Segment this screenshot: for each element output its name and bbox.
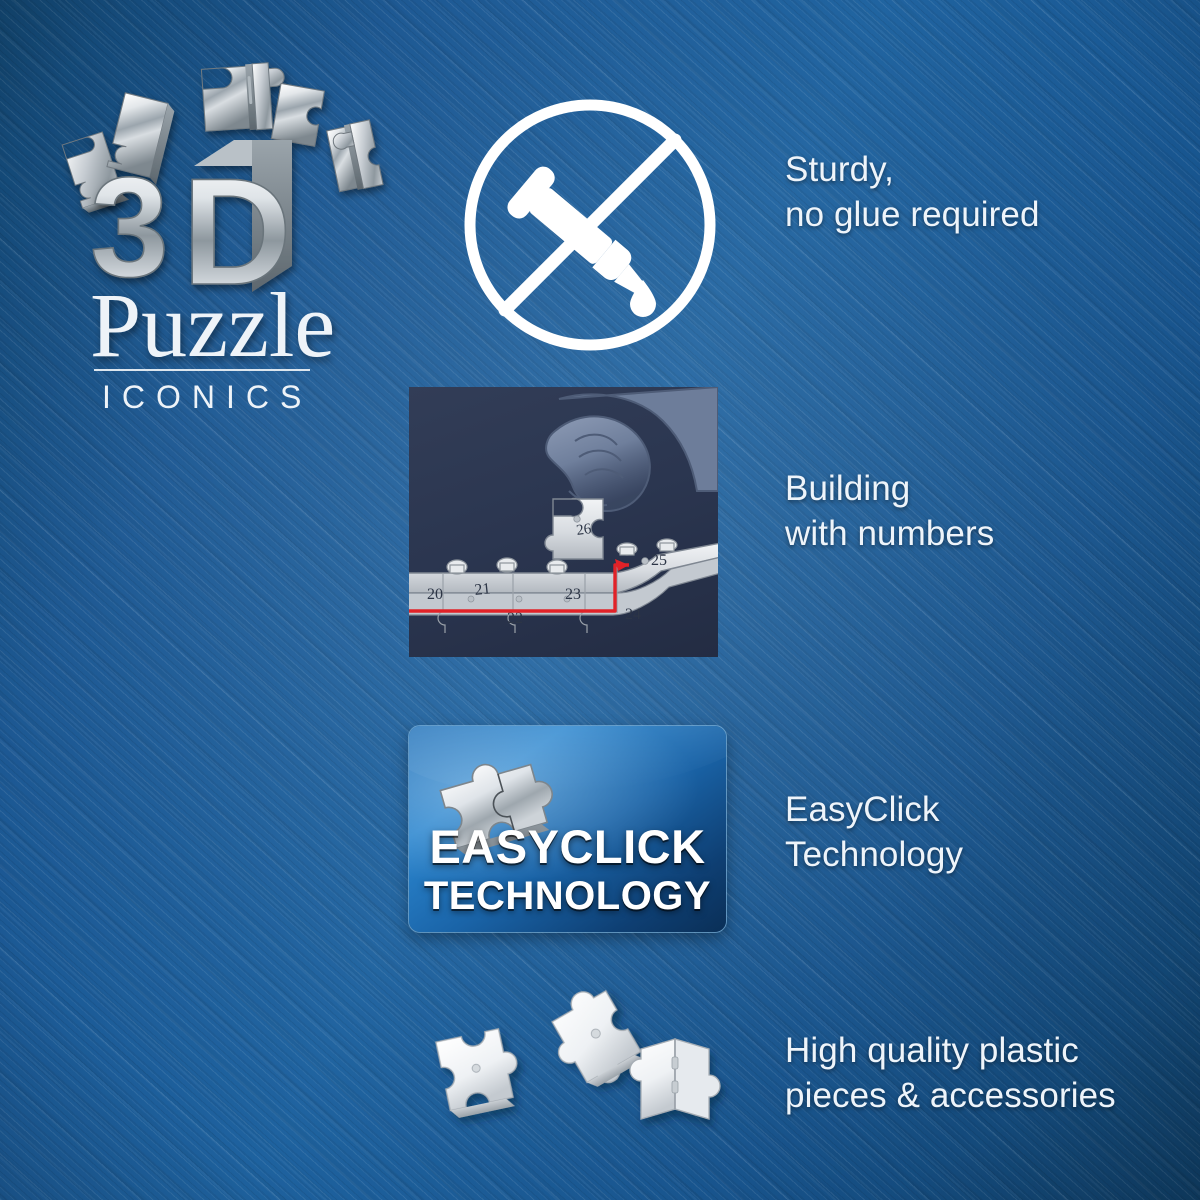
feature-caption-building-with-numbers: Building with numbers: [785, 467, 1200, 557]
easyclick-wordmark: EASYCLICK TECHNOLOGY: [409, 823, 726, 916]
feature-row-easyclick: EASYCLICK TECHNOLOGY EasyClick Technolog…: [409, 726, 726, 932]
easyclick-line1: EASYCLICK: [409, 823, 726, 870]
logo-puzzle-text: Puzzle: [90, 274, 335, 376]
feature-caption-easyclick: EasyClick Technology: [785, 788, 1200, 878]
no-glue-icon: [455, 90, 725, 360]
hand-illustration: [546, 387, 718, 511]
plastic-puzzle-pieces: [405, 1015, 735, 1145]
feature-row-high-quality-plastic: High quality plastic pieces & accessorie…: [405, 1015, 735, 1145]
feature-row-building-with-numbers: 26: [409, 387, 718, 657]
3d-puzzle-iconics-logo: 3 D Puzzle ICONICS: [42, 48, 372, 378]
feature-caption-high-quality-plastic: High quality plastic pieces & accessorie…: [785, 1029, 1200, 1119]
logo-iconics-text: ICONICS: [102, 379, 312, 415]
feature-caption-no-glue: Sturdy, no glue required: [785, 148, 1200, 238]
piece-number-25: 25: [651, 552, 667, 569]
numbered-pieces-illustration: 26: [409, 387, 718, 657]
piece-number-26: 26: [575, 521, 593, 539]
easyclick-technology-badge: EASYCLICK TECHNOLOGY: [409, 726, 726, 932]
infographic-canvas: 3 D Puzzle ICONICS: [0, 0, 1200, 1200]
piece-number-24: 24: [625, 606, 641, 623]
piece-number-23: 23: [565, 586, 581, 603]
svg-text:Puzzle: Puzzle: [90, 274, 335, 376]
piece-number-21: 21: [474, 580, 492, 599]
puzzle-piece-26: 26: [545, 499, 603, 560]
easyclick-line2: TECHNOLOGY: [409, 876, 726, 916]
feature-row-no-glue: Sturdy, no glue required: [455, 90, 725, 360]
piece-number-20: 20: [427, 586, 443, 603]
